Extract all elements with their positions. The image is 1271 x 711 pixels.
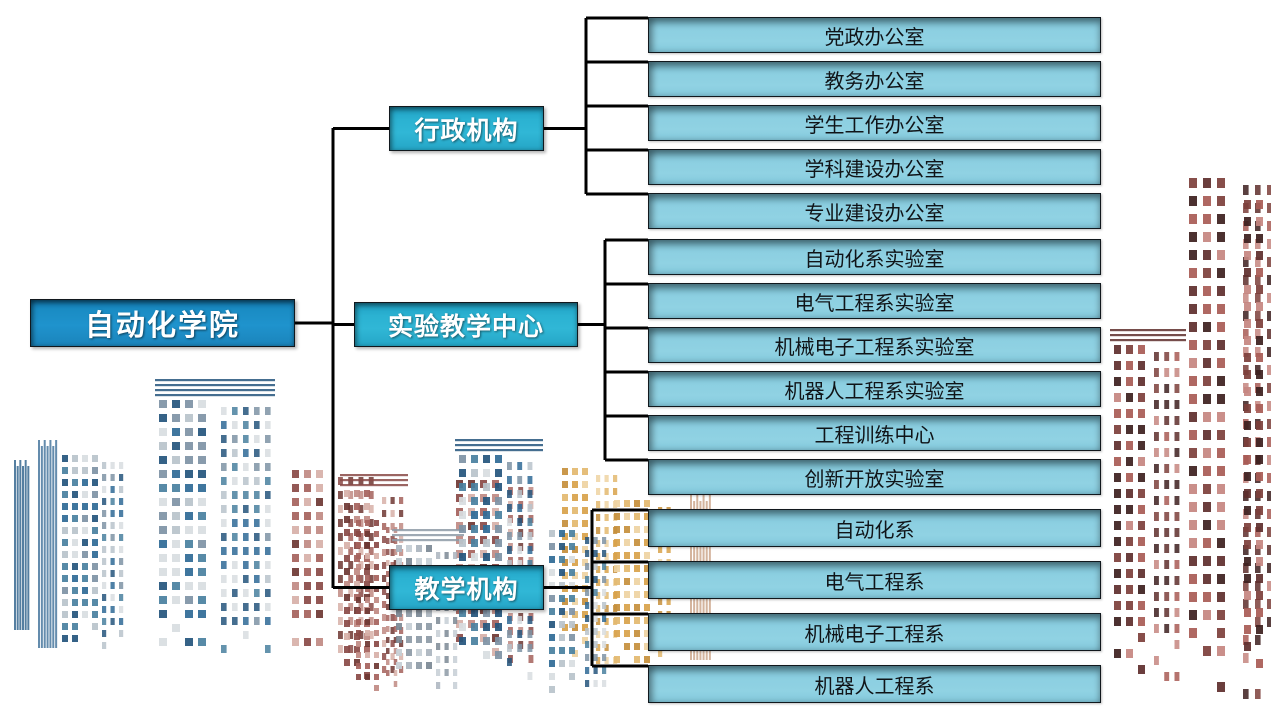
branch-node-administrative[interactable]: 行政机构 bbox=[389, 106, 544, 151]
leaf-node-label: 创新开放实验室 bbox=[805, 463, 945, 492]
leaf-node-lab-teaching-center-5[interactable]: 创新开放实验室 bbox=[648, 459, 1101, 495]
leaf-node-label: 机器人工程系实验室 bbox=[785, 375, 965, 404]
branch-node-lab-teaching-center[interactable]: 实验教学中心 bbox=[354, 302, 578, 347]
branch-node-teaching-departments[interactable]: 教学机构 bbox=[389, 565, 544, 610]
leaf-node-label: 机械电子工程系实验室 bbox=[775, 331, 975, 360]
leaf-node-lab-teaching-center-3[interactable]: 机器人工程系实验室 bbox=[648, 371, 1101, 407]
leaf-node-lab-teaching-center-2[interactable]: 机械电子工程系实验室 bbox=[648, 327, 1101, 363]
branch-node-label: 教学机构 bbox=[414, 570, 518, 606]
leaf-node-label: 机械电子工程系 bbox=[805, 618, 945, 647]
leaf-node-label: 党政办公室 bbox=[825, 21, 925, 50]
leaf-node-lab-teaching-center-1[interactable]: 电气工程系实验室 bbox=[648, 283, 1101, 319]
leaf-node-administrative-3[interactable]: 学科建设办公室 bbox=[648, 149, 1101, 185]
leaf-node-label: 工程训练中心 bbox=[815, 419, 935, 448]
branch-node-label: 行政机构 bbox=[414, 111, 518, 147]
leaf-node-administrative-2[interactable]: 学生工作办公室 bbox=[648, 105, 1101, 141]
leaf-node-label: 机器人工程系 bbox=[815, 670, 935, 699]
leaf-node-label: 专业建设办公室 bbox=[805, 197, 945, 226]
leaf-node-administrative-0[interactable]: 党政办公室 bbox=[648, 17, 1101, 53]
root-node-automation-college[interactable]: 自动化学院 bbox=[30, 299, 295, 347]
leaf-node-teaching-departments-0[interactable]: 自动化系 bbox=[648, 509, 1101, 547]
leaf-node-teaching-departments-2[interactable]: 机械电子工程系 bbox=[648, 613, 1101, 651]
leaf-node-label: 学科建设办公室 bbox=[805, 153, 945, 182]
leaf-node-teaching-departments-1[interactable]: 电气工程系 bbox=[648, 561, 1101, 599]
org-chart-canvas: 自动化学院 行政机构党政办公室教务办公室学生工作办公室学科建设办公室专业建设办公… bbox=[0, 0, 1271, 711]
leaf-node-label: 教务办公室 bbox=[825, 65, 925, 94]
leaf-node-teaching-departments-3[interactable]: 机器人工程系 bbox=[648, 665, 1101, 703]
root-node-label: 自动化学院 bbox=[85, 302, 240, 344]
leaf-node-lab-teaching-center-4[interactable]: 工程训练中心 bbox=[648, 415, 1101, 451]
leaf-node-label: 电气工程系 bbox=[825, 566, 925, 595]
leaf-node-administrative-1[interactable]: 教务办公室 bbox=[648, 61, 1101, 97]
leaf-node-administrative-4[interactable]: 专业建设办公室 bbox=[648, 193, 1101, 229]
leaf-node-label: 自动化系实验室 bbox=[805, 243, 945, 272]
leaf-node-lab-teaching-center-0[interactable]: 自动化系实验室 bbox=[648, 239, 1101, 275]
leaf-node-label: 学生工作办公室 bbox=[805, 109, 945, 138]
branch-node-label: 实验教学中心 bbox=[388, 307, 544, 343]
leaf-node-label: 电气工程系实验室 bbox=[795, 287, 955, 316]
leaf-node-label: 自动化系 bbox=[835, 514, 915, 543]
